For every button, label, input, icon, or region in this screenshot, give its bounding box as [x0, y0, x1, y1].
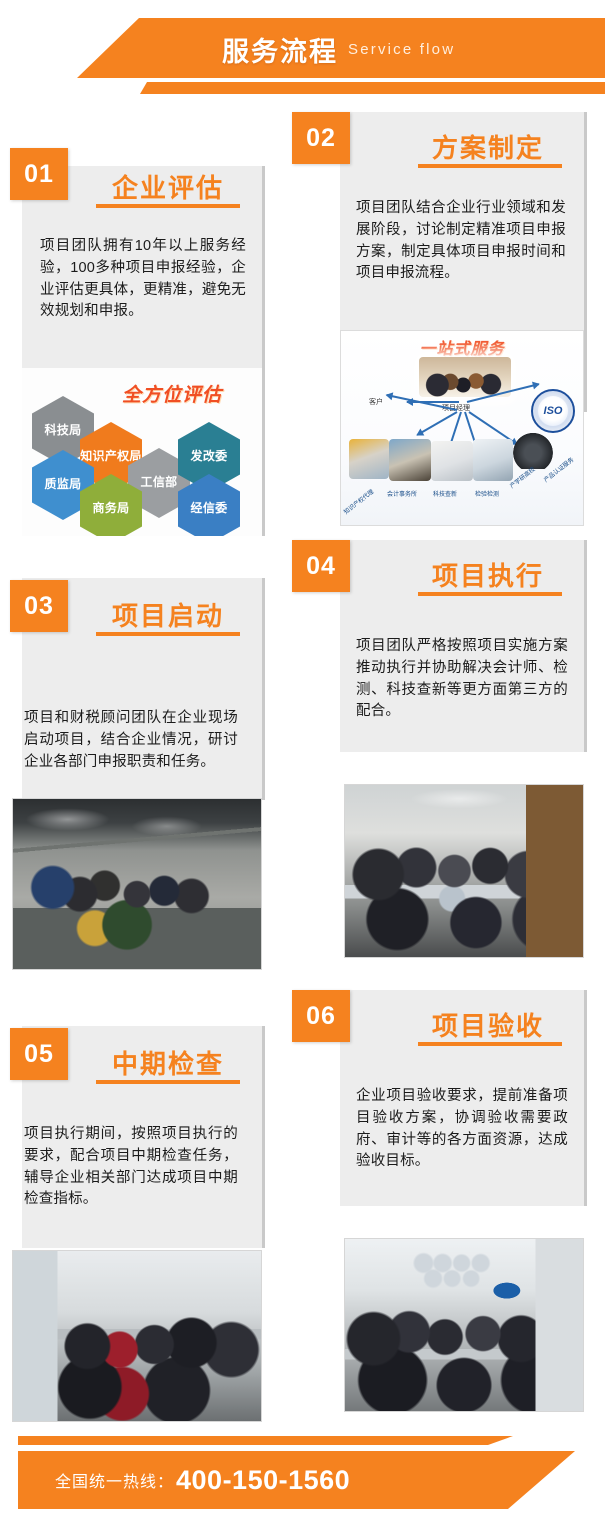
card-06-text: 企业项目验收要求，提前准备项目验收方案，协调验收需要政府、审计等的各方面资源，达… [356, 1086, 568, 1173]
certification-seal-icon: ISO [531, 389, 575, 433]
card-03-number-badge: 03 [10, 580, 68, 632]
hex-diagram: 全方位评估 科技局 知识产权局 质监局 工信部 商务局 发改委 经信委 [22, 368, 262, 536]
card-02-title: 方案制定 [400, 128, 576, 165]
one-stop-customer-label: 客户 [369, 397, 383, 407]
service-tile-university [513, 433, 553, 469]
arrow-to-left-down [417, 411, 458, 436]
one-stop-center-photo [419, 357, 511, 397]
card-04-title-rule [418, 592, 562, 596]
card-03-photo [12, 798, 262, 970]
card-05-number-badge: 05 [10, 1028, 68, 1080]
page-subtitle: Service flow [348, 41, 455, 58]
card-02-number-badge: 02 [292, 112, 350, 164]
card-01-title-rule [96, 204, 240, 208]
card-04-text: 项目团队严格按照项目实施方案推动执行并协助解决会计师、检测、科技查新等更方面第三… [356, 636, 568, 723]
page-footer: 全国统一热线： 400-150-1560 [0, 1418, 605, 1538]
service-tile-search [431, 441, 473, 481]
service-tile-testing [473, 439, 513, 481]
card-05-text: 项目执行期间，按照项目执行的要求，配合项目中期检查任务，辅导企业相关部门达成项目… [24, 1124, 238, 1211]
service-label-accounting: 会计事务所 [387, 489, 417, 498]
card-05-title: 中期检查 [80, 1044, 256, 1081]
card-03-photo-scene [13, 799, 261, 969]
card-05-photo-scene [13, 1251, 261, 1421]
card-03-title-rule [96, 632, 240, 636]
service-tile-ip [349, 439, 389, 479]
card-06-number-badge: 06 [292, 990, 350, 1042]
card-06-photo-scene [345, 1239, 583, 1411]
hex-diagram-title: 全方位评估 [122, 380, 222, 407]
card-01-title: 企业评估 [80, 168, 256, 205]
card-06-title: 项目验收 [400, 1006, 576, 1043]
card-05-photo [12, 1250, 262, 1422]
footer-hotline-group: 全国统一热线： 400-150-1560 [55, 1451, 350, 1509]
header-orange-stripe [0, 82, 605, 94]
service-label-search: 科技查新 [433, 489, 457, 498]
header-title-group: 服务流程 Service flow [222, 26, 602, 72]
footer-hotline-label: 全国统一热线： [55, 1468, 174, 1492]
service-tile-accounting [389, 439, 431, 481]
card-04-number-badge: 04 [292, 540, 350, 592]
card-02-title-rule [418, 164, 562, 168]
card-03-text: 项目和财税顾问团队在企业现场启动项目，结合企业情况，研讨企业各部门申报职责和任务… [24, 708, 238, 773]
footer-hotline-number: 400-150-1560 [176, 1465, 350, 1496]
card-03-title: 项目启动 [80, 596, 256, 633]
card-02-text: 项目团队结合企业行业领域和发展阶段，讨论制定精准项目申报方案，制定具体项目申报时… [356, 198, 566, 285]
page-header: 服务流程 Service flow [0, 0, 605, 112]
card-04-photo-scene [345, 785, 583, 957]
card-05-title-rule [96, 1080, 240, 1084]
one-stop-title: 一站式服务 [341, 335, 583, 359]
card-04-title: 项目执行 [400, 556, 576, 593]
one-stop-diagram: 一站式服务 客户 项目经理 ISO 知识产权代理 会计事务所 科技查新 检验检测… [340, 330, 584, 526]
page-title: 服务流程 [222, 30, 338, 69]
card-01-text: 项目团队拥有10年以上服务经验，100多种项目申报经验，企业评估更具体，更精准，… [40, 236, 246, 323]
card-01-number-badge: 01 [10, 148, 68, 200]
service-label-testing: 检验检测 [475, 489, 499, 498]
footer-orange-stripe [18, 1436, 605, 1445]
card-04-photo [344, 784, 584, 958]
card-06-title-rule [418, 1042, 562, 1046]
card-06-photo [344, 1238, 584, 1412]
service-label-ip: 知识产权代理 [341, 487, 375, 516]
